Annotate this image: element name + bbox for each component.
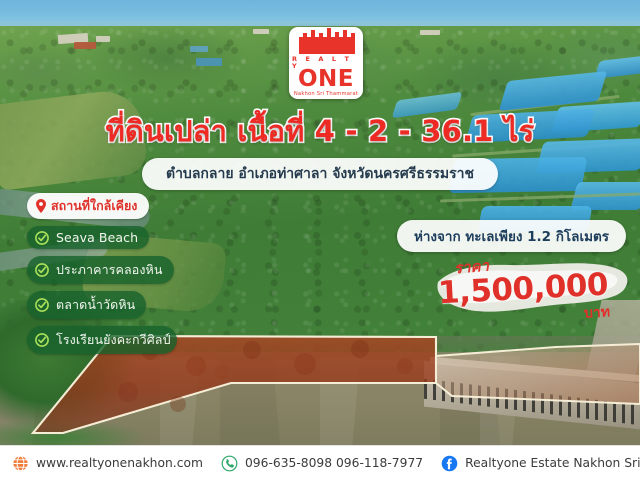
nearby-item-label: ตลาดน้ำวัดหิน	[56, 295, 135, 315]
nearby-item[interactable]: ประภาคารคลองหิน	[27, 256, 174, 284]
price-block: ราคา 1,500,000 บาท	[432, 252, 632, 324]
website-text: www.realtyonenakhon.com	[36, 456, 203, 470]
logo-one-word: ONE	[298, 69, 354, 91]
nearby-heading: สถานที่ใกล้เคียง	[27, 193, 149, 219]
castle-skyline-icon	[297, 28, 355, 54]
listing-poster: R E A L T Y ONE Nakhon Sri Thammarat ที่…	[0, 0, 640, 480]
nearby-heading-label: สถานที่ใกล้เคียง	[51, 196, 137, 216]
phone-contact[interactable]: 096-635-8098 096-118-7977	[221, 455, 423, 472]
facebook-contact[interactable]: Realtyone Estate Nakhon Sri Thammarat	[441, 455, 640, 472]
check-circle-icon	[35, 298, 49, 312]
nearby-item[interactable]: โรงเรียนยังคะกวีศิลป์	[27, 326, 177, 354]
globe-icon	[12, 455, 29, 472]
distance-to-sea-badge: ห่างจาก ทะเลเพียง 1.2 กิโลเมตร	[397, 220, 626, 252]
phone-icon	[221, 455, 238, 472]
check-circle-icon	[35, 263, 49, 277]
check-circle-icon	[35, 333, 49, 347]
facebook-text: Realtyone Estate Nakhon Sri Thammarat	[465, 456, 640, 470]
logo-subtitle: Nakhon Sri Thammarat	[294, 92, 358, 97]
price-currency-unit: บาท	[583, 301, 610, 324]
location-subtitle: ตำบลกลาย อำเภอท่าศาลา จังหวัดนครศรีธรรมร…	[142, 158, 498, 190]
nearby-item[interactable]: Seava Beach	[27, 226, 149, 249]
nearby-item-label: โรงเรียนยังคะกวีศิลป์	[56, 330, 171, 350]
brand-logo[interactable]: R E A L T Y ONE Nakhon Sri Thammarat	[289, 27, 363, 99]
facebook-icon	[441, 455, 458, 472]
nearby-places-panel: สถานที่ใกล้เคียง Seava Beach ประภาคารคลอ…	[27, 193, 177, 354]
nearby-item[interactable]: ตลาดน้ำวัดหิน	[27, 291, 146, 319]
check-circle-icon	[35, 231, 49, 245]
contact-footer: www.realtyonenakhon.com 096-635-8098 096…	[0, 445, 640, 480]
website-contact[interactable]: www.realtyonenakhon.com	[12, 455, 203, 472]
nearby-item-label: Seava Beach	[56, 230, 138, 245]
nearby-item-label: ประภาคารคลองหิน	[56, 260, 163, 280]
map-pin-icon	[36, 199, 46, 213]
phone-text: 096-635-8098 096-118-7977	[245, 456, 423, 470]
headline-title: ที่ดินเปล่า เนื้อที่ 4 - 2 - 36.1 ไร่	[0, 108, 640, 154]
parcel-polygon-east	[436, 344, 640, 404]
